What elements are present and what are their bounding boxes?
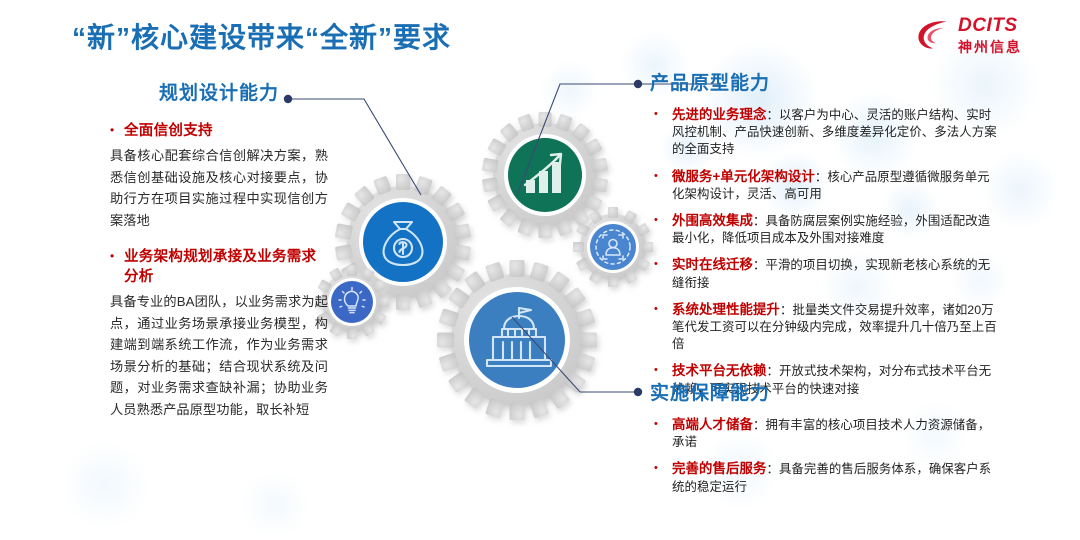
product-bullet-3: • 外围高效集成：具备防腐层案例实施经验，外围适配改造最小化，降低项目成本及外围… [650, 212, 1000, 247]
panel-implementation-caption: 实施保障能力 [650, 378, 1000, 405]
panel-planning-caption: 规划设计能力 [110, 78, 328, 105]
product-bullet-6-key: 技术平台无依赖 [672, 363, 766, 378]
impl-bullet-2-sep: ： [766, 462, 779, 476]
panel-planning-design: 规划设计能力 • 全面信创支持 具备核心配套综合信创解决方案，熟悉信创基础设施及… [110, 78, 328, 436]
gear-cluster-illustration [300, 90, 700, 440]
left-bullet-1-heading: 全面信创支持 [124, 121, 213, 141]
product-bullet-3-text: 外围高效集成：具备防腐层案例实施经验，外围适配改造最小化，降低项目成本及外围对接… [672, 212, 1000, 247]
logo-text-cn: 神州信息 [958, 37, 1022, 57]
product-bullet-1: • 先进的业务理念：以客户为中心、灵活的账户结构、实时风控机制、产品快速创新、多… [650, 106, 1000, 159]
product-bullet-4-sep: ： [753, 258, 766, 272]
slide-root: “新”核心建设带来“全新”要求 DCITS 神州信息 [0, 0, 1080, 540]
product-bullet-5-key: 系统处理性能提升 [672, 302, 780, 317]
left-bullet-1: • 全面信创支持 [110, 121, 328, 141]
impl-bullet-2: • 完善的售后服务：具备完善的售后服务体系，确保客户系统的稳定运行 [650, 460, 1000, 495]
gear-growth-chart [482, 112, 608, 238]
left-bullet-2: • 业务架构规划承接及业务需求分析 [110, 247, 328, 287]
product-bullet-4-key: 实时在线迁移 [672, 257, 753, 272]
product-bullet-1-text: 先进的业务理念：以客户为中心、灵活的账户结构、实时风控机制、产品快速创新、多维度… [672, 106, 1000, 159]
panel-implementation-assurance: 实施保障能力 • 高端人才储备：拥有丰富的核心项目技术人力资源储备，承诺 • 完… [650, 378, 1000, 505]
bullet-marker-icon: • [650, 106, 672, 159]
impl-bullet-1-key: 高端人才储备 [672, 417, 753, 432]
connector-dot-product [634, 80, 642, 88]
bullet-marker-icon: • [650, 460, 672, 495]
impl-bullet-1: • 高端人才储备：拥有丰富的核心项目技术人力资源储备，承诺 [650, 416, 1000, 451]
product-bullet-4: • 实时在线迁移：平滑的项目切换，实现新老核心系统的无缝衔接 [650, 256, 1000, 291]
gear-bank-building [437, 260, 597, 420]
bullet-marker-icon: • [650, 301, 672, 354]
left-bullet-2-body: 具备专业的BA团队，以业务需求为起点，通过业务场景承接业务模型，构建端到端系统工… [110, 291, 328, 420]
product-bullet-2: • 微服务+单元化架构设计：核心产品原型遵循微服务单元化架构设计，灵活、高可用 [650, 168, 1000, 203]
page-title: “新”核心建设带来“全新”要求 [72, 16, 451, 56]
impl-bullet-1-text: 高端人才储备：拥有丰富的核心项目技术人力资源储备，承诺 [672, 416, 1000, 451]
brand-logo: DCITS 神州信息 [916, 14, 1066, 60]
product-bullet-2-sep: ： [815, 170, 828, 184]
bullet-marker-icon: • [650, 168, 672, 203]
bullet-marker-icon: • [650, 212, 672, 247]
product-bullet-2-text: 微服务+单元化架构设计：核心产品原型遵循微服务单元化架构设计，灵活、高可用 [672, 168, 1000, 203]
product-bullet-1-sep: ： [766, 108, 779, 122]
product-bullet-2-key: 微服务+单元化架构设计 [672, 169, 815, 184]
logo-text-en: DCITS [958, 15, 1018, 37]
product-bullet-1-key: 先进的业务理念 [672, 107, 766, 122]
left-bullet-2-heading: 业务架构规划承接及业务需求分析 [124, 247, 328, 287]
product-bullet-4-text: 实时在线迁移：平滑的项目切换，实现新老核心系统的无缝衔接 [672, 256, 1000, 291]
swoosh-logo-icon [916, 18, 952, 52]
impl-bullet-2-key: 完善的售后服务 [672, 461, 766, 476]
left-bullet-1-body: 具备核心配套综合信创解决方案，熟悉信创基础设施及核心对接要点，协助行方在项目实施… [110, 145, 328, 231]
panel-product-caption: 产品原型能力 [650, 68, 1000, 95]
bullet-marker-icon: • [110, 121, 124, 141]
impl-bullet-1-sep: ： [753, 418, 766, 432]
impl-bullet-2-text: 完善的售后服务：具备完善的售后服务体系，确保客户系统的稳定运行 [672, 460, 1000, 495]
bullet-marker-icon: • [650, 256, 672, 291]
product-bullet-6-sep: ： [766, 364, 779, 378]
product-bullet-3-key: 外围高效集成 [672, 213, 753, 228]
bullet-marker-icon: • [650, 416, 672, 451]
product-bullet-5: • 系统处理性能提升：批量类文件交易提升效率，诸如20万笔代发工资可以在分钟级内… [650, 301, 1000, 354]
bullet-marker-icon: • [110, 247, 124, 287]
product-bullet-5-sep: ： [780, 303, 793, 317]
product-bullet-3-sep: ： [753, 214, 766, 228]
panel-product-prototype: 产品原型能力 • 先进的业务理念：以客户为中心、灵活的账户结构、实时风控机制、产… [650, 68, 1000, 407]
product-bullet-5-text: 系统处理性能提升：批量类文件交易提升效率，诸如20万笔代发工资可以在分钟级内完成… [672, 301, 1000, 354]
